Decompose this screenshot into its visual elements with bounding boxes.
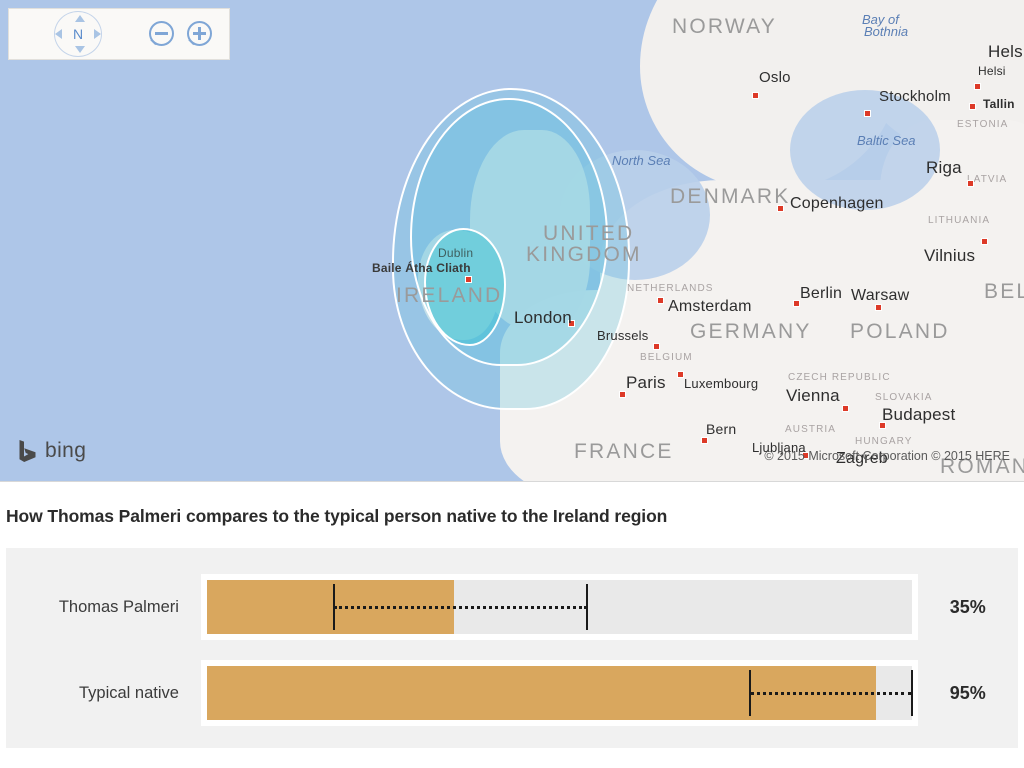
minus-icon (155, 32, 168, 35)
city-label: Tallin (983, 97, 1015, 111)
city-label: London (514, 308, 572, 328)
city-marker-icon (465, 276, 472, 283)
pan-down-icon[interactable] (75, 46, 85, 53)
sea-label: North Sea (612, 153, 671, 168)
city-label: Vienna (786, 386, 840, 406)
city-marker-icon (752, 92, 759, 99)
city-label: Riga (926, 158, 962, 178)
bar-category-label: Thomas Palmeri (6, 598, 201, 617)
city-label: Copenhagen (790, 195, 884, 213)
city-marker-icon (653, 343, 660, 350)
zoom-out-button[interactable] (147, 19, 177, 49)
comparison-heading: How Thomas Palmeri compares to the typic… (6, 506, 1024, 527)
compass-control[interactable]: N (51, 11, 105, 57)
city-label: Baile Átha Cliath (372, 261, 471, 275)
bar-track-wrapper (201, 574, 918, 640)
map-panel[interactable]: Bay of Bothnia North Sea Baltic Sea NORW… (0, 0, 1024, 482)
city-label: Warsaw (851, 287, 909, 305)
city-marker-icon (842, 405, 849, 412)
city-label: Amsterdam (668, 298, 752, 316)
bar-track (207, 666, 912, 720)
city-marker-icon (974, 83, 981, 90)
city-label: Berlin (800, 285, 842, 303)
city-label: Hels (988, 42, 1023, 62)
error-bar-cap-low (749, 670, 751, 716)
city-marker-icon (967, 180, 974, 187)
bing-mark-icon (18, 439, 38, 463)
comparison-chart: Thomas Palmeri 35% Typical native 95% (6, 548, 1018, 748)
city-label: Paris (626, 373, 666, 393)
pan-right-icon[interactable] (94, 29, 101, 39)
error-bar-cap-high (586, 584, 588, 630)
city-label: Stockholm (879, 88, 951, 105)
city-label: Dublin (438, 246, 473, 260)
error-bar-cap-high (911, 670, 913, 716)
city-label: Oslo (759, 69, 791, 86)
city-marker-icon (875, 304, 882, 311)
city-marker-icon (701, 437, 708, 444)
map-canvas[interactable]: Bay of Bothnia North Sea Baltic Sea NORW… (0, 0, 1024, 481)
bing-wordmark: bing (45, 439, 86, 463)
sea-label: Bothnia (864, 24, 908, 39)
zoom-in-button[interactable] (185, 19, 215, 49)
chart-row: Typical native 95% (6, 656, 1018, 730)
city-label: Budapest (882, 405, 955, 425)
sea-label: Baltic Sea (857, 133, 916, 148)
error-bar (334, 606, 588, 609)
plus-vertical-icon (198, 27, 201, 40)
bar-category-label: Typical native (6, 684, 201, 703)
city-label: Vilnius (924, 246, 975, 266)
chart-row: Thomas Palmeri 35% (6, 570, 1018, 644)
city-marker-icon (969, 103, 976, 110)
city-label: Luxembourg (684, 376, 758, 391)
city-marker-icon (777, 205, 784, 212)
city-label: Helsi (978, 64, 1006, 78)
pan-left-icon[interactable] (55, 29, 62, 39)
city-marker-icon (657, 297, 664, 304)
city-marker-icon (677, 371, 684, 378)
pan-up-icon[interactable] (75, 15, 85, 22)
water-baltic (790, 90, 940, 210)
map-controls[interactable]: N (8, 8, 230, 60)
compass-north-label: N (73, 26, 83, 42)
city-marker-icon (793, 300, 800, 307)
error-bar-cap-low (333, 584, 335, 630)
city-label: Brussels (597, 328, 648, 343)
map-copyright: © 2015 Microsoft Corporation © 2015 HERE (764, 449, 1010, 463)
city-marker-icon (981, 238, 988, 245)
bar-value-label: 35% (918, 597, 1018, 618)
bar-value-label: 95% (918, 683, 1018, 704)
bar-track (207, 580, 912, 634)
bar-track-wrapper (201, 660, 918, 726)
bing-logo[interactable]: bing (18, 439, 86, 463)
city-label: Bern (706, 421, 736, 437)
error-bar (750, 692, 912, 695)
city-marker-icon (864, 110, 871, 117)
city-marker-icon (619, 391, 626, 398)
